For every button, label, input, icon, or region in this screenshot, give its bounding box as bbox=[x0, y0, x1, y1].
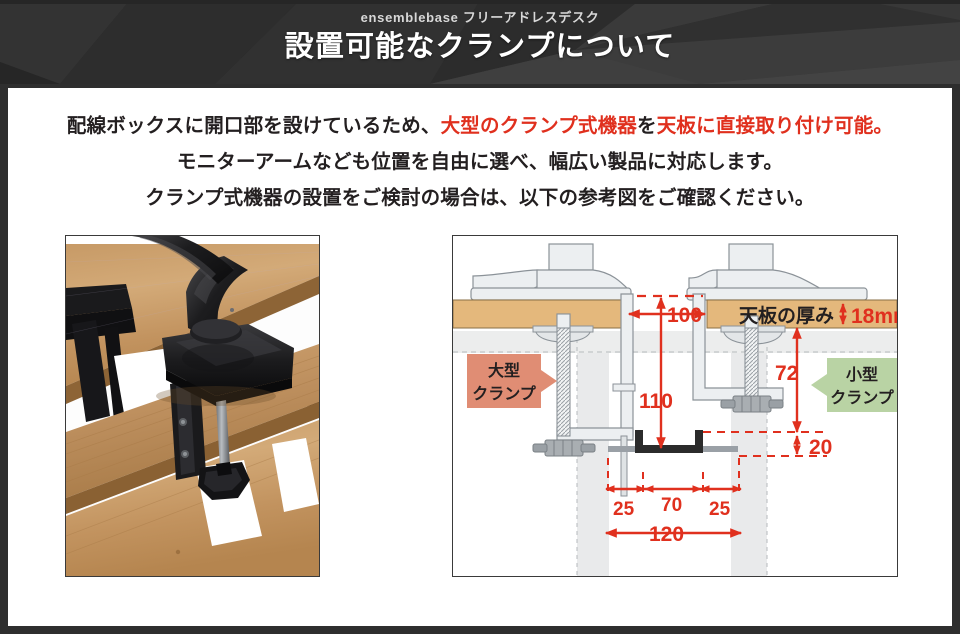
lead-line1-plain-a: 配線ボックスに開口部を設けているため、 bbox=[67, 115, 441, 137]
page-root: ensemblebase フリーアドレスデスク 設置可能なクランプについて 配線… bbox=[0, 0, 960, 634]
lead-line1-emphasis-2: 天板に直接取り付け可能。 bbox=[657, 115, 893, 137]
lead-line1-plain-b: を bbox=[637, 115, 657, 137]
tabletop-thickness-caption: 天板の厚み 18mm bbox=[739, 305, 897, 328]
page-title: 設置可能なクランプについて bbox=[0, 25, 960, 64]
dim-72: 72 bbox=[775, 362, 798, 385]
dim-100: 100 bbox=[667, 304, 702, 327]
dim-110: 110 bbox=[639, 390, 673, 413]
dim-25-left: 25 bbox=[613, 499, 635, 520]
clamp-dimension-diagram: 100 110 72 20 25 70 25 120 天板の厚み 18mm bbox=[452, 235, 898, 577]
content-card: 配線ボックスに開口部を設けているため、大型のクランプ式機器を天板に直接取り付け可… bbox=[8, 88, 952, 626]
lead-line1-emphasis-1: 大型のクランプ式機器 bbox=[441, 115, 637, 137]
dim-25-right: 25 bbox=[709, 499, 731, 520]
header-subtitle: ensemblebase フリーアドレスデスク bbox=[0, 0, 960, 25]
lead-paragraph: 配線ボックスに開口部を設けているため、大型のクランプ式機器を天板に直接取り付け可… bbox=[8, 108, 952, 216]
dim-70: 70 bbox=[661, 495, 682, 516]
clamp-photo bbox=[65, 235, 320, 577]
small-clamp-label-line2: クランプ bbox=[830, 388, 895, 407]
lead-line-2: モニターアームなども位置を自由に選べ、幅広い製品に対応します。 bbox=[8, 144, 952, 180]
large-clamp-label-line1: 大型 bbox=[488, 361, 520, 380]
tabletop-thickness-value: 18mm bbox=[851, 305, 897, 328]
large-clamp-label-line2: クランプ bbox=[472, 384, 537, 403]
lead-line-3: クランプ式機器の設置をご検討の場合は、以下の参考図をご確認ください。 bbox=[8, 180, 952, 216]
clamp-photo-illustration bbox=[66, 236, 319, 576]
dim-20: 20 bbox=[809, 436, 832, 459]
lead-line-1: 配線ボックスに開口部を設けているため、大型のクランプ式機器を天板に直接取り付け可… bbox=[8, 108, 952, 144]
small-clamp-label-line1: 小型 bbox=[846, 366, 878, 384]
dim-120: 120 bbox=[649, 523, 684, 546]
tabletop-thickness-label: 天板の厚み bbox=[739, 305, 834, 327]
page-header: ensemblebase フリーアドレスデスク 設置可能なクランプについて bbox=[0, 0, 960, 84]
clamp-dimension-illustration: 100 110 72 20 25 70 25 120 天板の厚み 18mm bbox=[453, 236, 897, 576]
